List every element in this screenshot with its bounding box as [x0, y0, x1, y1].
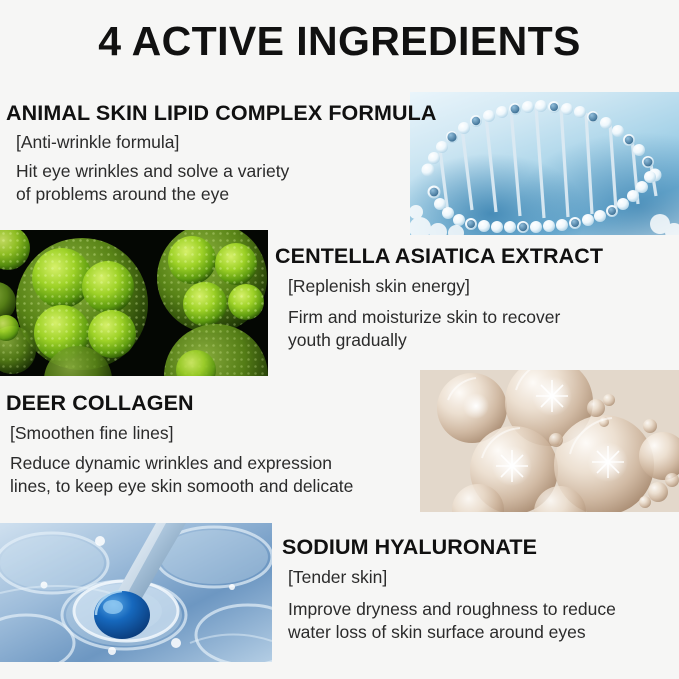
ingredient-1-description: Hit eye wrinkles and solve a variety of … [16, 160, 289, 206]
ingredient-1-description-line-1: Hit eye wrinkles and solve a variety [16, 160, 289, 183]
ingredient-3-heading: DEER COLLAGEN [6, 390, 194, 416]
ingredient-4-tag: [Tender skin] [288, 565, 387, 589]
ingredient-3-description-line-2: lines, to keep eye skin somooth and deli… [10, 475, 353, 498]
ingredient-4-description-line-2: water loss of skin surface around eyes [288, 621, 616, 644]
ingredient-1-description-line-2: of problems around the eye [16, 183, 289, 206]
ingredient-3-description: Reduce dynamic wrinkles and expression l… [10, 452, 353, 498]
ingredient-3-description-line-1: Reduce dynamic wrinkles and expression [10, 452, 353, 475]
ingredient-4-heading: SODIUM HYALURONATE [282, 534, 537, 560]
green-algae-cells-photo [0, 230, 268, 376]
ingredient-4-description-line-1: Improve dryness and roughness to reduce [288, 598, 616, 621]
ingredient-2-description: Firm and moisturize skin to recover yout… [288, 306, 560, 352]
ingredients-infographic: 4 ACTIVE INGREDIENTS [0, 0, 679, 679]
ingredient-2-heading: CENTELLA ASIATICA EXTRACT [275, 243, 603, 269]
ingredient-4-description: Improve dryness and roughness to reduce … [288, 598, 616, 644]
ingredient-2-tag: [Replenish skin energy] [288, 274, 470, 298]
ingredient-1-heading: ANIMAL SKIN LIPID COMPLEX FORMULA [6, 100, 437, 126]
page-title: 4 ACTIVE INGREDIENTS [0, 16, 679, 66]
golden-bubbles-photo [420, 370, 679, 512]
blue-pipette-droplet-photo [0, 523, 272, 662]
ingredient-1-tag: [Anti-wrinkle formula] [16, 130, 179, 154]
ingredient-2-description-line-1: Firm and moisturize skin to recover [288, 306, 560, 329]
ingredient-2-description-line-2: youth gradually [288, 329, 560, 352]
ingredient-3-tag: [Smoothen fine lines] [10, 421, 173, 445]
dna-double-helix-photo [410, 92, 679, 235]
